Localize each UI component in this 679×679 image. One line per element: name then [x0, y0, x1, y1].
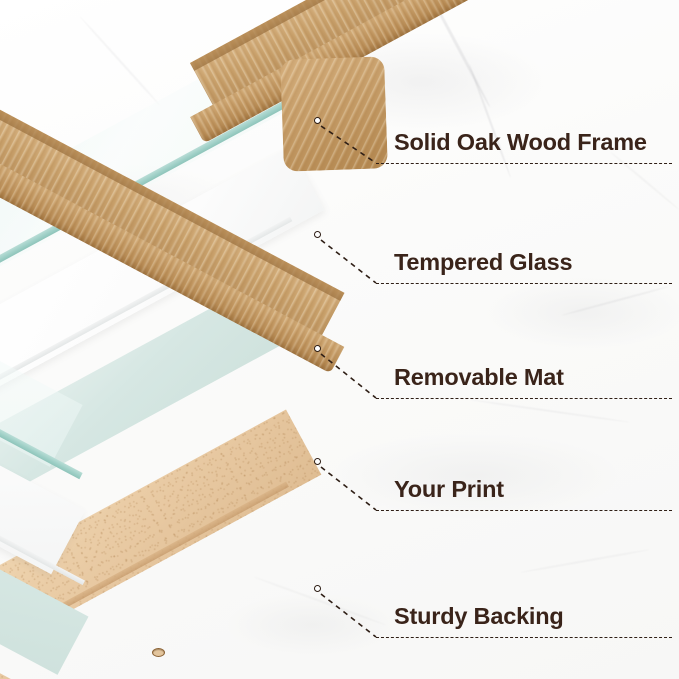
leader-line: [0, 0, 679, 679]
infographic-canvas: Solid Oak Wood Frame Tempered Glass Remo…: [0, 0, 679, 679]
callout-label-sturdy-backing: Sturdy Backing: [394, 605, 564, 629]
callout-rule: [376, 637, 672, 638]
